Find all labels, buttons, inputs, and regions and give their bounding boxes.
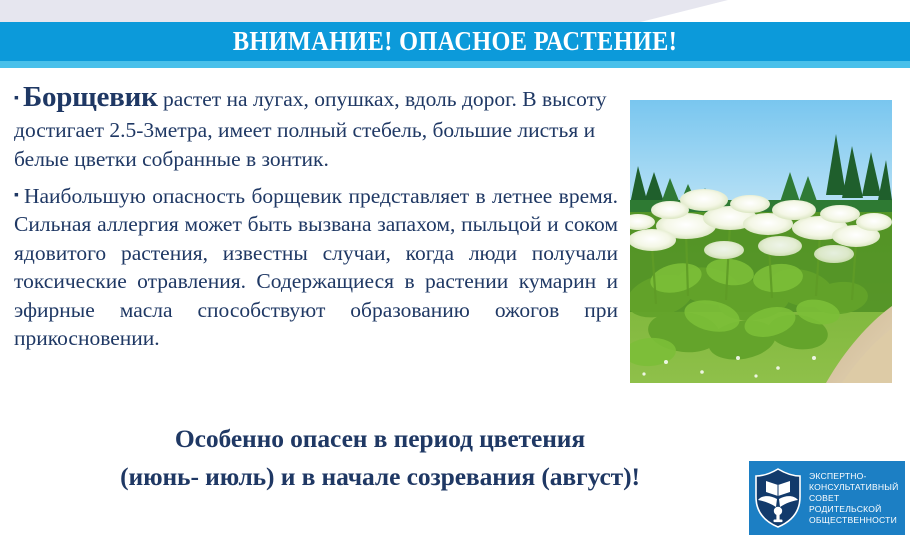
hogweed-photo — [630, 100, 892, 383]
paragraph-two: ▪Наибольшую опасность борщевик представл… — [14, 182, 618, 352]
logo-line-4: РОДИТЕЛЬСКОЙ — [809, 504, 899, 515]
shield-emblem-icon — [752, 467, 804, 529]
top-decorative-band — [0, 0, 728, 22]
body-text-column: ▪Борщевик растет на лугах, опушках, вдол… — [14, 78, 618, 354]
lead-word-borshchevik: Борщевик — [23, 81, 158, 113]
callout-line-2: (июнь- июль) и в начале созревания (авгу… — [0, 458, 760, 496]
callout-line-1: Особенно опасен в период цветения — [0, 420, 760, 458]
organisation-logo: ЭКСПЕРТНО- КОНСУЛЬТАТИВНЫЙ СОВЕТ РОДИТЕЛ… — [749, 461, 905, 535]
poster-root: { "colors": { "banner_bg": "#0c9ada", "b… — [0, 0, 910, 540]
paragraph-two-body: Наибольшую опасность борщевик представля… — [14, 184, 618, 350]
header-banner: ВНИМАНИЕ! ОПАСНОЕ РАСТЕНИЕ! — [0, 22, 910, 68]
logo-line-3: СОВЕТ — [809, 493, 899, 504]
logo-line-1: ЭКСПЕРТНО- — [809, 471, 899, 482]
banner-underline-stripe — [0, 61, 910, 68]
seasonal-warning-callout: Особенно опасен в период цветения (июнь-… — [0, 420, 760, 495]
bullet-marker-2: ▪ — [14, 188, 20, 203]
logo-line-5: ОБЩЕСТВЕННОСТИ — [809, 515, 899, 526]
banner-title: ВНИМАНИЕ! ОПАСНОЕ РАСТЕНИЕ! — [46, 22, 865, 61]
logo-text-block: ЭКСПЕРТНО- КОНСУЛЬТАТИВНЫЙ СОВЕТ РОДИТЕЛ… — [809, 471, 899, 526]
bullet-marker-1: ▪ — [14, 91, 19, 106]
paragraph-one: ▪Борщевик растет на лугах, опушках, вдол… — [14, 78, 618, 173]
logo-line-2: КОНСУЛЬТАТИВНЫЙ — [809, 482, 899, 493]
